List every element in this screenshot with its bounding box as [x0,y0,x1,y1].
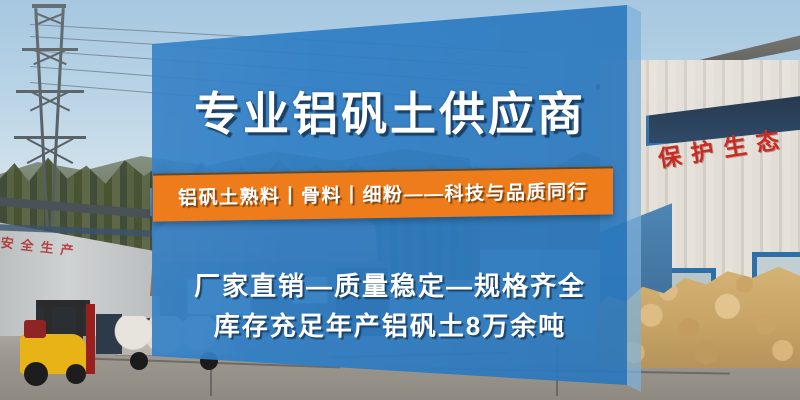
banner-screenshot: 安全生产 保护生态 [0,0,800,400]
banner-subline-1: 厂家直销—质量稳定—规格齐全 [155,266,625,303]
orange-ribbon-text: 铝矾土熟料丨骨料丨细粉——科技与品质同行 [153,166,613,219]
banner-subline-2: 库存充足年产铝矾土8万余吨 [155,306,625,343]
banner-content: 专业铝矾土供应商 铝矾土熟料丨骨料丨细粉——科技与品质同行 厂家直销—质量稳定—… [0,0,800,400]
banner-headline: 专业铝矾土供应商 [150,78,630,144]
